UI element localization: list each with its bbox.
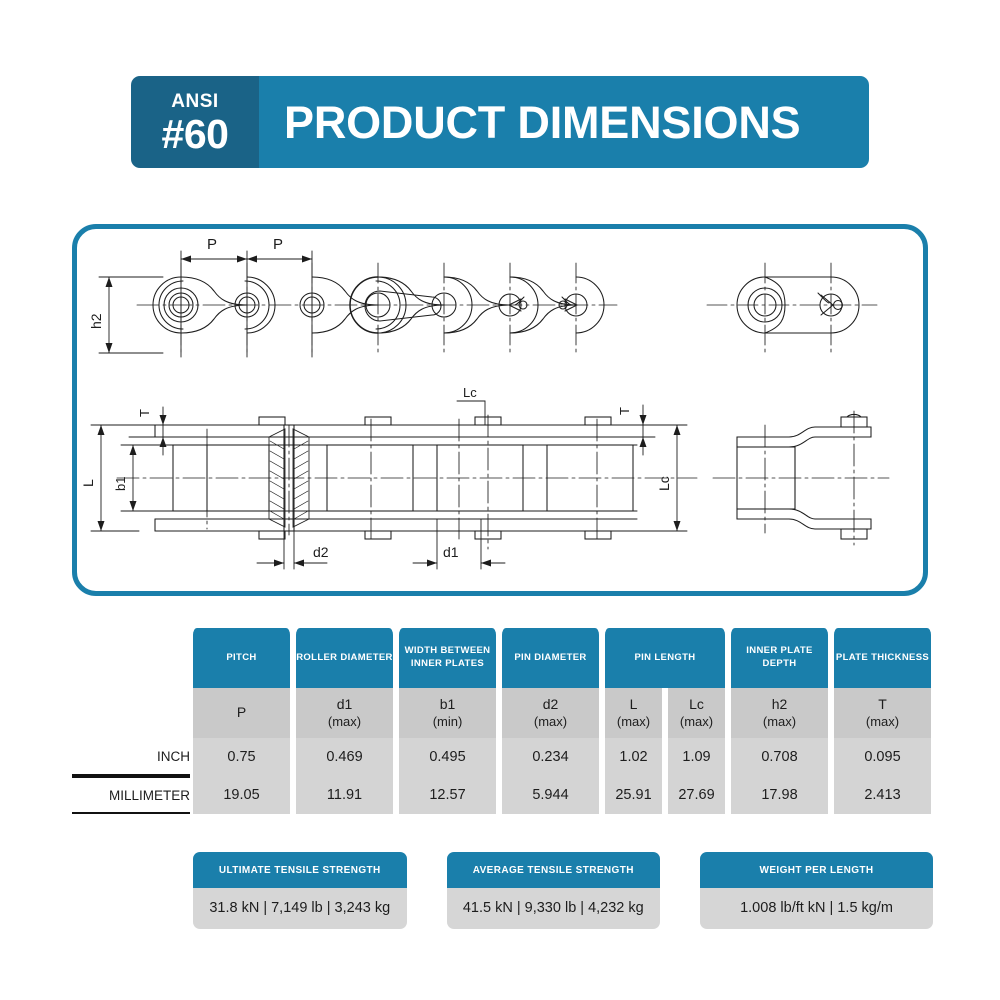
symbol-text-d1: d1 xyxy=(296,696,393,714)
chain-engineering-drawing: P P h2 xyxy=(77,229,923,591)
symbol-text-l: L xyxy=(605,696,662,714)
card-title-average-tensile-strength: AVERAGE TENSILE STRENGTH xyxy=(447,852,661,888)
dim-label-l: L xyxy=(80,479,96,487)
value-mm-pin-length-lc: 27.69 xyxy=(665,776,728,814)
dim-label-p1: P xyxy=(207,236,217,253)
value-inch-width-between-inner-plates: 0.495 xyxy=(396,738,499,776)
value-mm-plate-thickness: 2.413 xyxy=(831,776,934,814)
value-mm-pin-length-l: 25.91 xyxy=(602,776,665,814)
card-title-ultimate-tensile-strength: ULTIMATE TENSILE STRENGTH xyxy=(193,852,407,888)
product-dimensions-page: ANSI #60 PRODUCT DIMENSIONS xyxy=(0,0,1000,1000)
value-mm-pin-diameter: 5.944 xyxy=(499,776,602,814)
value-mm-pitch: 19.05 xyxy=(190,776,293,814)
value-inch-pin-diameter: 0.234 xyxy=(499,738,602,776)
col-symbol-h2: h2 (max) xyxy=(728,688,831,738)
strength-cards-container: ULTIMATE TENSILE STRENGTH 31.8 kN | 7,14… xyxy=(193,852,933,929)
col-header-width-between-inner-plates: WIDTH BETWEEN INNER PLATES xyxy=(396,628,499,688)
dim-label-t-right: T xyxy=(617,407,632,415)
symbol-text-p: P xyxy=(193,704,290,722)
col-symbol-b1: b1 (min) xyxy=(396,688,499,738)
card-weight-per-length: WEIGHT PER LENGTH 1.008 lb/ft kN | 1.5 k… xyxy=(700,852,933,929)
table-symbol-row: P d1 (max) b1 (min) d2 (max) L (max) xyxy=(72,688,934,738)
dim-label-b1: b1 xyxy=(113,477,128,491)
col-header-plate-thickness: PLATE THICKNESS xyxy=(831,628,934,688)
value-inch-pitch: 0.75 xyxy=(190,738,293,776)
table-header-row: PITCH ROLLER DIAMETER WIDTH BETWEEN INNE… xyxy=(72,628,934,688)
symbol-text-b1: b1 xyxy=(399,696,496,714)
col-header-pin-length: PIN LENGTH xyxy=(602,628,728,688)
table-row-inch: INCH 0.75 0.469 0.495 0.234 1.02 1.09 0.… xyxy=(72,738,934,776)
col-header-inner-plate-depth: INNER PLATE DEPTH xyxy=(728,628,831,688)
dim-label-lc-top: Lc xyxy=(463,385,477,400)
col-symbol-d1: d1 (max) xyxy=(293,688,396,738)
header-title-container: PRODUCT DIMENSIONS xyxy=(259,76,869,168)
symbol-qualifier-h2: (max) xyxy=(731,714,828,730)
ansi-standard-badge: ANSI #60 xyxy=(131,76,259,168)
header-spacer xyxy=(72,628,190,688)
col-header-pitch: PITCH xyxy=(190,628,293,688)
col-symbol-lc: Lc (max) xyxy=(665,688,728,738)
row-label-inch: INCH xyxy=(72,738,190,776)
dim-label-d2: d2 xyxy=(313,544,329,560)
table-row-millimeter: MILLIMETER 19.05 11.91 12.57 5.944 25.91… xyxy=(72,776,934,814)
col-symbol-l: L (max) xyxy=(602,688,665,738)
card-value-average-tensile-strength: 41.5 kN | 9,330 lb | 4,232 kg xyxy=(447,888,661,929)
dim-label-p2: P xyxy=(273,236,283,253)
card-ultimate-tensile-strength: ULTIMATE TENSILE STRENGTH 31.8 kN | 7,14… xyxy=(193,852,407,929)
row-label-millimeter: MILLIMETER xyxy=(72,776,190,814)
badge-standard-label: ANSI xyxy=(171,92,218,111)
symbol-qualifier-d2: (max) xyxy=(502,714,599,730)
value-inch-pin-length-l: 1.02 xyxy=(602,738,665,776)
value-inch-plate-thickness: 0.095 xyxy=(831,738,934,776)
card-value-ultimate-tensile-strength: 31.8 kN | 7,149 lb | 3,243 kg xyxy=(193,888,407,929)
symbol-text-d2: d2 xyxy=(502,696,599,714)
symbol-text-lc: Lc xyxy=(668,696,725,714)
card-value-weight-per-length: 1.008 lb/ft kN | 1.5 kg/m xyxy=(700,888,933,929)
col-symbol-p: P xyxy=(190,688,293,738)
value-mm-inner-plate-depth: 17.98 xyxy=(728,776,831,814)
col-symbol-d2: d2 (max) xyxy=(499,688,602,738)
value-inch-inner-plate-depth: 0.708 xyxy=(728,738,831,776)
dimensions-table-container: PITCH ROLLER DIAMETER WIDTH BETWEEN INNE… xyxy=(72,628,930,814)
value-inch-pin-length-lc: 1.09 xyxy=(665,738,728,776)
dimensions-table: PITCH ROLLER DIAMETER WIDTH BETWEEN INNE… xyxy=(72,628,934,814)
dim-label-h2: h2 xyxy=(88,313,104,329)
symbol-qualifier-t: (max) xyxy=(834,714,931,730)
badge-chain-number: #60 xyxy=(162,114,229,155)
card-title-weight-per-length: WEIGHT PER LENGTH xyxy=(700,852,933,888)
symbol-qualifier-b1: (min) xyxy=(399,714,496,730)
col-symbol-t: T (max) xyxy=(831,688,934,738)
col-header-roller-diameter: ROLLER DIAMETER xyxy=(293,628,396,688)
symbol-text-h2: h2 xyxy=(731,696,828,714)
symbol-qualifier-d1: (max) xyxy=(296,714,393,730)
symbol-qualifier-l: (max) xyxy=(605,714,662,730)
value-mm-roller-diameter: 11.91 xyxy=(293,776,396,814)
card-average-tensile-strength: AVERAGE TENSILE STRENGTH 41.5 kN | 9,330… xyxy=(447,852,661,929)
value-inch-roller-diameter: 0.469 xyxy=(293,738,396,776)
dim-label-t-left: T xyxy=(137,409,152,417)
technical-drawing-panel: P P h2 xyxy=(72,224,928,596)
value-mm-width-between-inner-plates: 12.57 xyxy=(396,776,499,814)
page-title: PRODUCT DIMENSIONS xyxy=(284,100,800,145)
symbol-spacer xyxy=(72,688,190,738)
col-header-pin-diameter: PIN DIAMETER xyxy=(499,628,602,688)
header-banner: ANSI #60 PRODUCT DIMENSIONS xyxy=(131,76,869,168)
symbol-qualifier-lc: (max) xyxy=(668,714,725,730)
symbol-text-t: T xyxy=(834,696,931,714)
dim-label-d1: d1 xyxy=(443,544,459,560)
